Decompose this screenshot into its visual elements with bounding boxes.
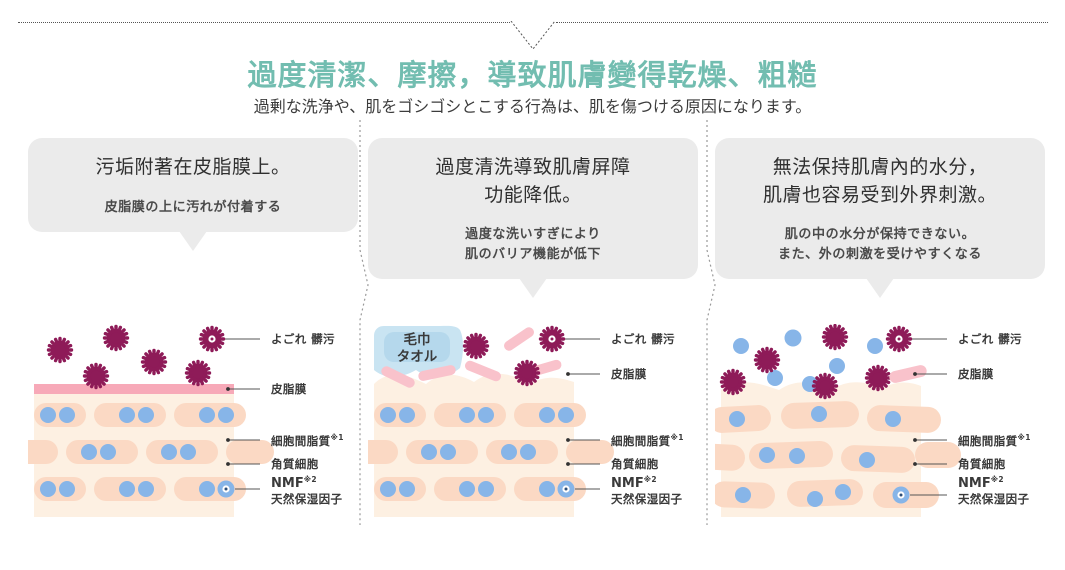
legend-nmf-2: NMF※2 天然保湿因子 <box>611 475 682 506</box>
bubble-head-2: 過度清洗導致肌膚屏障 功能降低。 <box>378 154 688 209</box>
legend-corneocyte-2: 角質細胞 <box>611 457 659 471</box>
top-divider <box>18 22 1048 23</box>
bubble-sub-line: 皮脂膜の上に汚れが付着する <box>38 198 348 218</box>
legend-dirt-1: よごれ 髒污 <box>271 332 335 346</box>
bubble-tail-1 <box>179 231 207 251</box>
legend-nmf-3: NMF※2 天然保湿因子 <box>958 475 1029 506</box>
legend-nmf-full: 天然保湿因子 <box>958 492 1029 506</box>
top-divider-chevron-icon <box>510 21 556 51</box>
page-subtitle: 過剰な洗浄や、肌をゴシゴシとこする行為は、肌を傷つける原因になります。 <box>0 93 1065 117</box>
legend-nmf-abbr: NMF <box>271 476 304 491</box>
bubble-tail-3 <box>866 278 894 298</box>
page-title: 過度清潔、摩擦，導致肌膚變得乾燥、粗糙 <box>0 52 1065 94</box>
legend-lipid-2: 細胞間脂質※1 <box>611 433 684 448</box>
column-3: 無法保持肌膚內的水分， 肌膚也容易受到外界刺激。 肌の中の水分が保持できない。 … <box>715 138 1045 538</box>
towel-label-ja: タオル <box>397 349 438 365</box>
column-divider-2 <box>697 0 717 570</box>
legend-sebum-2: 皮脂膜 <box>611 367 647 381</box>
callout-bubble-3: 無法保持肌膚內的水分， 肌膚也容易受到外界刺激。 肌の中の水分が保持できない。 … <box>715 138 1045 279</box>
bubble-head-line: 過度清洗導致肌膚屏障 <box>378 154 688 182</box>
legend-dirt-3: よごれ 髒污 <box>958 332 1022 346</box>
bubble-head-line: 肌膚也容易受到外界刺激。 <box>725 182 1035 210</box>
top-divider-left <box>18 22 510 23</box>
towel-label-zh: 毛巾 <box>404 331 431 348</box>
legend-nmf-abbr: NMF <box>958 476 991 491</box>
bubble-sub-3: 肌の中の水分が保持できない。 また、外の刺激を受けやすくなる <box>725 225 1035 265</box>
bubble-sub-1: 皮脂膜の上に汚れが付着する <box>38 198 348 218</box>
legend-lipid-text: 細胞間脂質 <box>958 434 1018 448</box>
legend-sebum-1: 皮脂膜 <box>271 382 307 396</box>
bubble-sub-2: 過度な洗いすぎにより 肌のバリア機能が低下 <box>378 225 688 265</box>
legend-nmf-1: NMF※2 天然保湿因子 <box>271 475 342 506</box>
bubble-sub-line: 過度な洗いすぎにより <box>378 225 688 245</box>
bubble-head-line: 無法保持肌膚內的水分， <box>725 154 1035 182</box>
bubble-sub-line: また、外の刺激を受けやすくなる <box>725 245 1035 265</box>
bubble-tail-2 <box>519 278 547 298</box>
callout-bubble-2: 過度清洗導致肌膚屏障 功能降低。 過度な洗いすぎにより 肌のバリア機能が低下 <box>368 138 698 279</box>
legend-nmf-full: 天然保湿因子 <box>271 492 342 506</box>
legend-corneocyte-1: 角質細胞 <box>271 457 319 471</box>
legend-nmf-note: ※2 <box>644 475 657 484</box>
legend-lipid-note: ※1 <box>331 433 344 442</box>
legend-nmf-note: ※2 <box>304 475 317 484</box>
bubble-sub-line: 肌のバリア機能が低下 <box>378 245 688 265</box>
bubble-head-1: 污垢附著在皮脂膜上。 <box>38 154 348 182</box>
legend-dirt-2: よごれ 髒污 <box>611 332 675 346</box>
legend-nmf-full: 天然保湿因子 <box>611 492 682 506</box>
legend-nmf-abbr: NMF <box>611 476 644 491</box>
callout-bubble-1: 污垢附著在皮脂膜上。 皮脂膜の上に汚れが付着する <box>28 138 358 232</box>
legend-lipid-text: 細胞間脂質 <box>611 434 671 448</box>
top-divider-right <box>556 22 1048 23</box>
legend-lipid-note: ※1 <box>1018 433 1031 442</box>
column-2: 過度清洗導致肌膚屏障 功能降低。 過度な洗いすぎにより 肌のバリア機能が低下 <box>368 138 698 538</box>
legend-corneocyte-3: 角質細胞 <box>958 457 1006 471</box>
legend-nmf-note: ※2 <box>991 475 1004 484</box>
legend-lipid-3: 細胞間脂質※1 <box>958 433 1031 448</box>
bubble-head-3: 無法保持肌膚內的水分， 肌膚也容易受到外界刺激。 <box>725 154 1035 209</box>
legend-lipid-text: 細胞間脂質 <box>271 434 331 448</box>
legend-sebum-3: 皮脂膜 <box>958 367 994 381</box>
column-1: 污垢附著在皮脂膜上。 皮脂膜の上に汚れが付着する <box>28 138 358 538</box>
bubble-head-line: 功能降低。 <box>378 182 688 210</box>
legend-lipid-1: 細胞間脂質※1 <box>271 433 344 448</box>
legend-lipid-note: ※1 <box>671 433 684 442</box>
bubble-sub-line: 肌の中の水分が保持できない。 <box>725 225 1035 245</box>
